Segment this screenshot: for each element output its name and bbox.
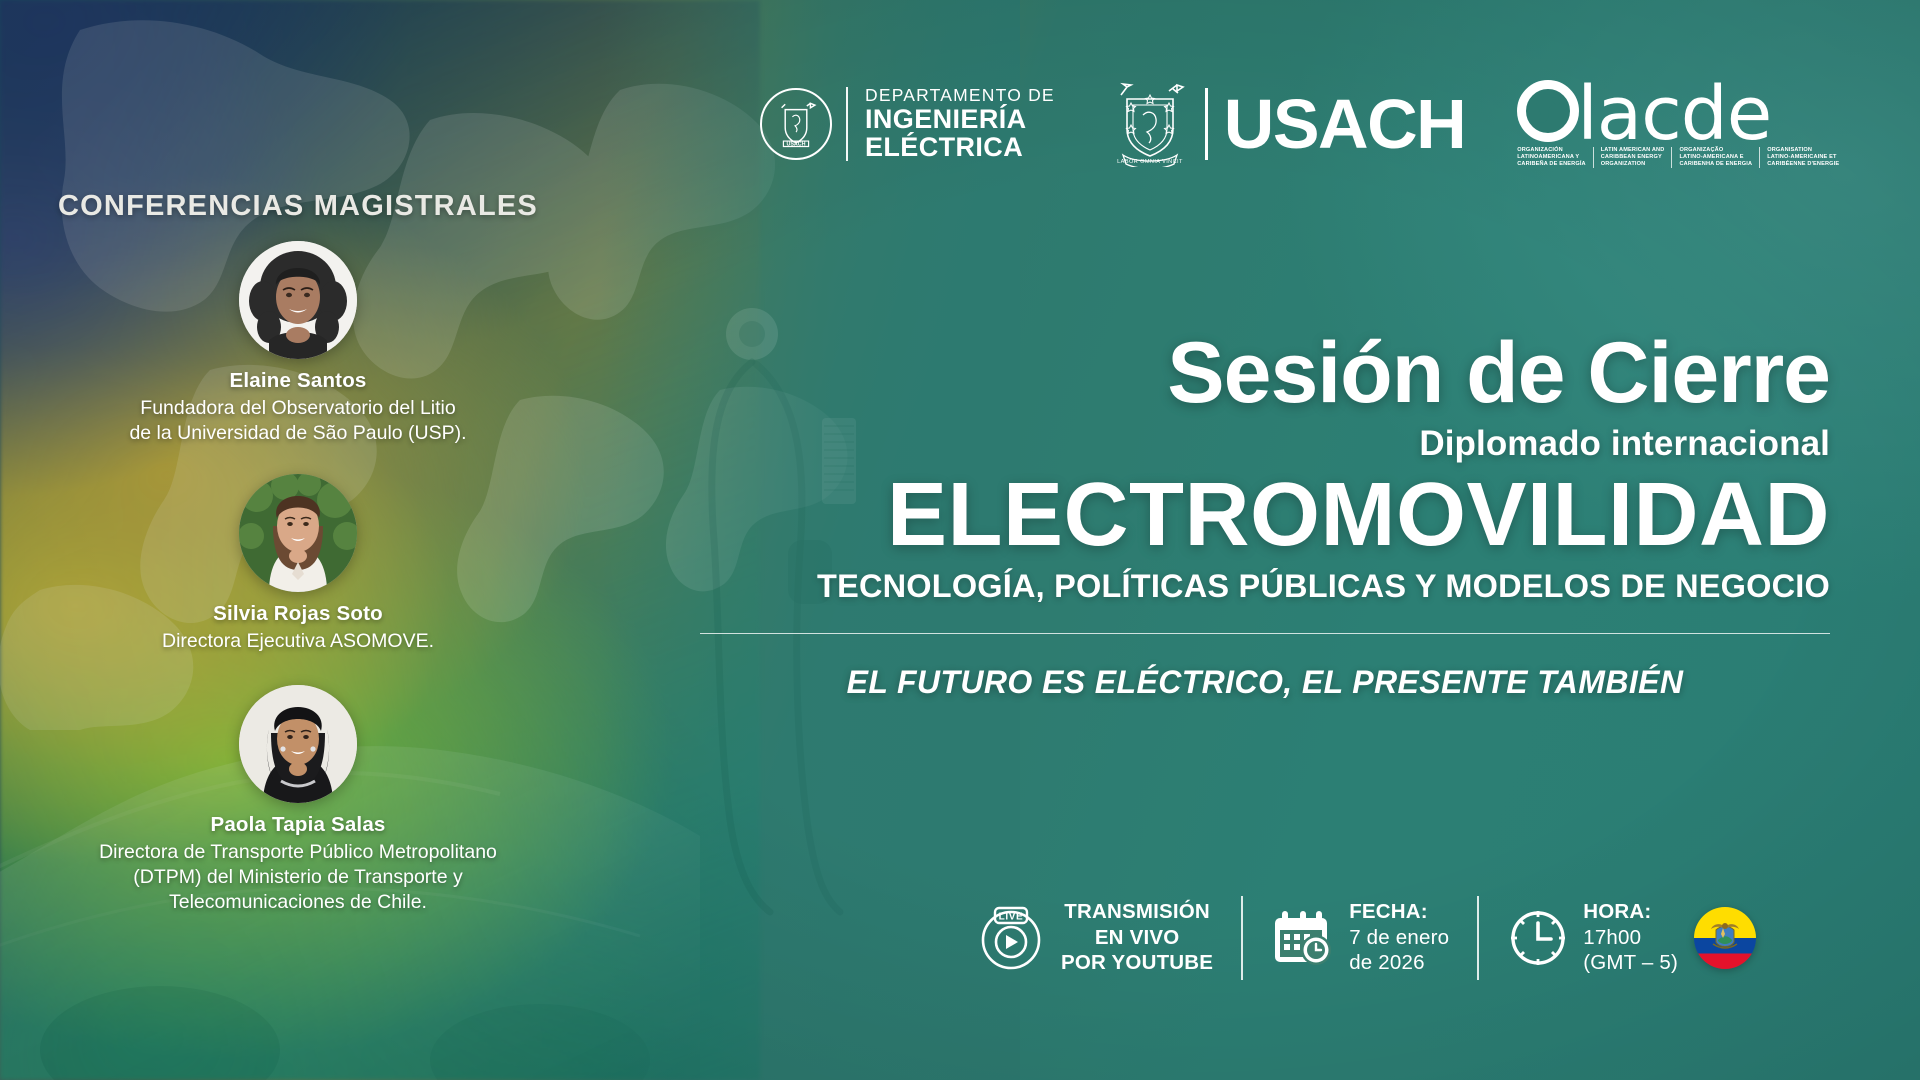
svg-text:USACH: USACH	[786, 142, 805, 148]
info-bar: LIVE TRANSMISIÓN EN VIVO POR YOUTUBE	[975, 880, 1875, 995]
info-separator	[1477, 896, 1479, 980]
logo-olacde: lacde ORGANIZACIÓNLATINOAMERICANA YCARIB…	[1517, 80, 1839, 167]
logo-row: USACH DEPARTAMENTO DE INGENIERÍA ELÉCTRI…	[760, 68, 1870, 180]
dept-line2: INGENIERÍA	[865, 106, 1055, 133]
speaker-role: Fundadora del Observatorio del Litiode l…	[0, 396, 596, 446]
broadcast-info: LIVE TRANSMISIÓN EN VIVO POR YOUTUBE	[975, 899, 1213, 975]
usach-logo-divider	[1205, 88, 1208, 160]
olacde-subtitle-es: ORGANIZACIÓNLATINOAMERICANA YCARIBEÑA DE…	[1517, 147, 1594, 167]
speaker-role: Directora de Transporte Público Metropol…	[0, 840, 596, 914]
time-line2: (GMT – 5)	[1583, 950, 1678, 975]
title-divider-rule	[700, 633, 1830, 635]
speaker-card: Paola Tapia Salas Directora de Transport…	[0, 685, 596, 914]
main-subtitle: TECNOLOGÍA, POLÍTICAS PÚBLICAS Y MODELOS…	[700, 568, 1830, 605]
program-kind: Diplomado internacional	[700, 424, 1830, 464]
speaker-card: Silvia Rojas Soto Directora Ejecutiva AS…	[0, 474, 596, 654]
time-line1: 17h00	[1583, 925, 1678, 950]
speaker-role: Directora Ejecutiva ASOMOVE.	[0, 629, 596, 654]
logo-departamento-ingenieria-electrica: USACH DEPARTAMENTO DE INGENIERÍA ELÉCTRI…	[760, 87, 1055, 162]
time-info: HORA: 17h00 (GMT – 5)	[1507, 899, 1756, 975]
broadcast-line1: TRANSMISIÓN	[1061, 899, 1213, 924]
speaker-name: Elaine Santos	[0, 369, 596, 393]
speaker-card: Elaine Santos Fundadora del Observatorio…	[0, 241, 596, 446]
date-line1: 7 de enero	[1349, 925, 1449, 950]
speaker-avatar-paola-tapia-salas	[239, 685, 357, 803]
olacde-subtitle-pt: ORGANIZAÇÃOLATINO-AMERICANA ECARIBENHA D…	[1679, 147, 1760, 167]
tagline: EL FUTURO ES ELÉCTRICO, EL PRESENTE TAMB…	[700, 664, 1830, 701]
svg-text:LABOR OMNIA VINCIT: LABOR OMNIA VINCIT	[1117, 159, 1183, 165]
olacde-wordmark: lacde	[1577, 86, 1771, 142]
olacde-subtitle-fr: ORGANISATIONLATINO-AMERICAINE ETCARIBÉEN…	[1767, 147, 1839, 167]
clock-icon	[1507, 907, 1569, 969]
dept-line3: ELÉCTRICA	[865, 134, 1055, 161]
speakers-panel: CONFERENCIAS MAGISTRALES	[0, 190, 596, 925]
dept-line1: DEPARTAMENTO DE	[865, 87, 1055, 105]
poster-canvas: USACH DEPARTAMENTO DE INGENIERÍA ELÉCTRI…	[0, 0, 1920, 1080]
broadcast-line2: EN VIVO	[1061, 925, 1213, 950]
speaker-avatar-elaine-santos	[239, 241, 357, 359]
date-line2: de 2026	[1349, 950, 1449, 975]
latin-america-globe-icon	[1517, 80, 1579, 142]
main-title: ELECTROMOVILIDAD	[700, 470, 1830, 562]
olacde-subtitle-en: LATIN AMERICAN ANDCARIBBEAN ENERGYORGANI…	[1601, 147, 1673, 167]
speaker-name: Paola Tapia Salas	[0, 813, 596, 837]
broadcast-line3: POR YOUTUBE	[1061, 950, 1213, 975]
ecuador-flag-icon	[1694, 907, 1756, 969]
speakers-panel-title: CONFERENCIAS MAGISTRALES	[0, 190, 596, 223]
usach-crest-icon: LABOR OMNIA VINCIT	[1111, 81, 1189, 167]
speaker-name: Silvia Rojas Soto	[0, 602, 596, 626]
title-block: Sesión de Cierre Diplomado internacional…	[700, 330, 1830, 701]
time-label: HORA:	[1583, 899, 1678, 924]
calendar-clock-icon	[1271, 908, 1335, 968]
session-title: Sesión de Cierre	[700, 330, 1830, 416]
live-play-icon: LIVE	[975, 902, 1047, 974]
speaker-avatar-silvia-rojas-soto	[239, 474, 357, 592]
usach-wordmark: USACH	[1224, 93, 1465, 156]
usach-seal-icon: USACH	[760, 88, 832, 160]
logo-usach: LABOR OMNIA VINCIT USACH	[1111, 81, 1465, 167]
date-info: FECHA: 7 de enero de 2026	[1271, 899, 1449, 975]
svg-text:LIVE: LIVE	[999, 911, 1024, 922]
info-separator	[1241, 896, 1243, 980]
logo-divider	[846, 87, 848, 161]
date-label: FECHA:	[1349, 899, 1449, 924]
